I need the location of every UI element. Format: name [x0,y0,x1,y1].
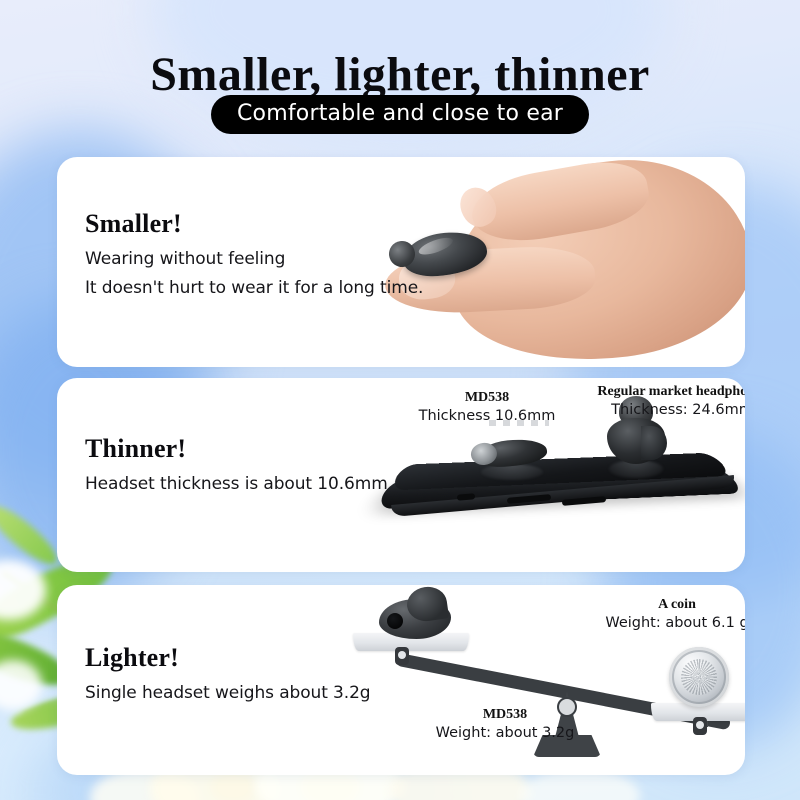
card-smaller-text: Smaller! Wearing without feeling It does… [85,209,423,307]
subtitle-container: Comfortable and close to ear [0,95,800,134]
card-lighter-line-1: Single headset weighs about 3.2g [85,683,371,703]
card-smaller-headline: Smaller! [85,209,423,239]
subtitle-badge: Comfortable and close to ear [211,95,589,134]
page-title: Smaller, lighter, thinner [0,50,800,100]
label-coin-weight-name: A coin [577,597,745,613]
earbud-port [387,613,403,629]
product-feature-page: Smaller, lighter, thinner Comfortable an… [0,0,800,800]
label-regular-thickness: Regular market headphones Thickness: 24.… [557,384,745,418]
scale-hinge-right [693,717,707,735]
label-regular-thickness-name: Regular market headphones [557,384,745,400]
label-md538-thickness-name: MD538 [407,390,567,406]
hand-holding-earbud-illustration [375,157,745,367]
coin-on-scale [669,647,729,707]
card-smaller-line-1: Wearing without feeling [85,249,423,269]
label-md538-weight-value: Weight: about 3.2g [395,725,615,741]
label-md538-weight-name: MD538 [395,707,615,723]
feature-card-lighter: A coin Weight: about 6.1 g MD538 Weight:… [57,585,745,775]
card-thinner-line-1: Headset thickness is about 10.6mm [85,474,388,494]
card-lighter-headline: Lighter! [85,643,371,673]
label-regular-thickness-value: Thickness: 24.6mm [557,402,745,418]
label-coin-weight-value: Weight: about 6.1 g [577,615,745,631]
earbud-regular-hook [641,426,667,460]
label-md538-thickness-value: Thickness 10.6mm [407,408,567,424]
card-lighter-text: Lighter! Single headset weighs about 3.2… [85,643,371,712]
scale-hinge-left [395,647,409,665]
feature-card-smaller: Smaller! Wearing without feeling It does… [57,157,745,367]
feature-card-thinner: MD538 Thickness 10.6mm Regular market he… [57,378,745,572]
earbud-on-scale [379,589,451,639]
label-md538-thickness: MD538 Thickness 10.6mm [407,390,567,424]
card-smaller-line-2: It doesn't hurt to wear it for a long ti… [85,278,423,298]
label-md538-weight: MD538 Weight: about 3.2g [395,707,615,741]
card-thinner-text: Thinner! Headset thickness is about 10.6… [85,434,388,503]
label-coin-weight: A coin Weight: about 6.1 g [577,597,745,631]
card-thinner-headline: Thinner! [85,434,388,464]
